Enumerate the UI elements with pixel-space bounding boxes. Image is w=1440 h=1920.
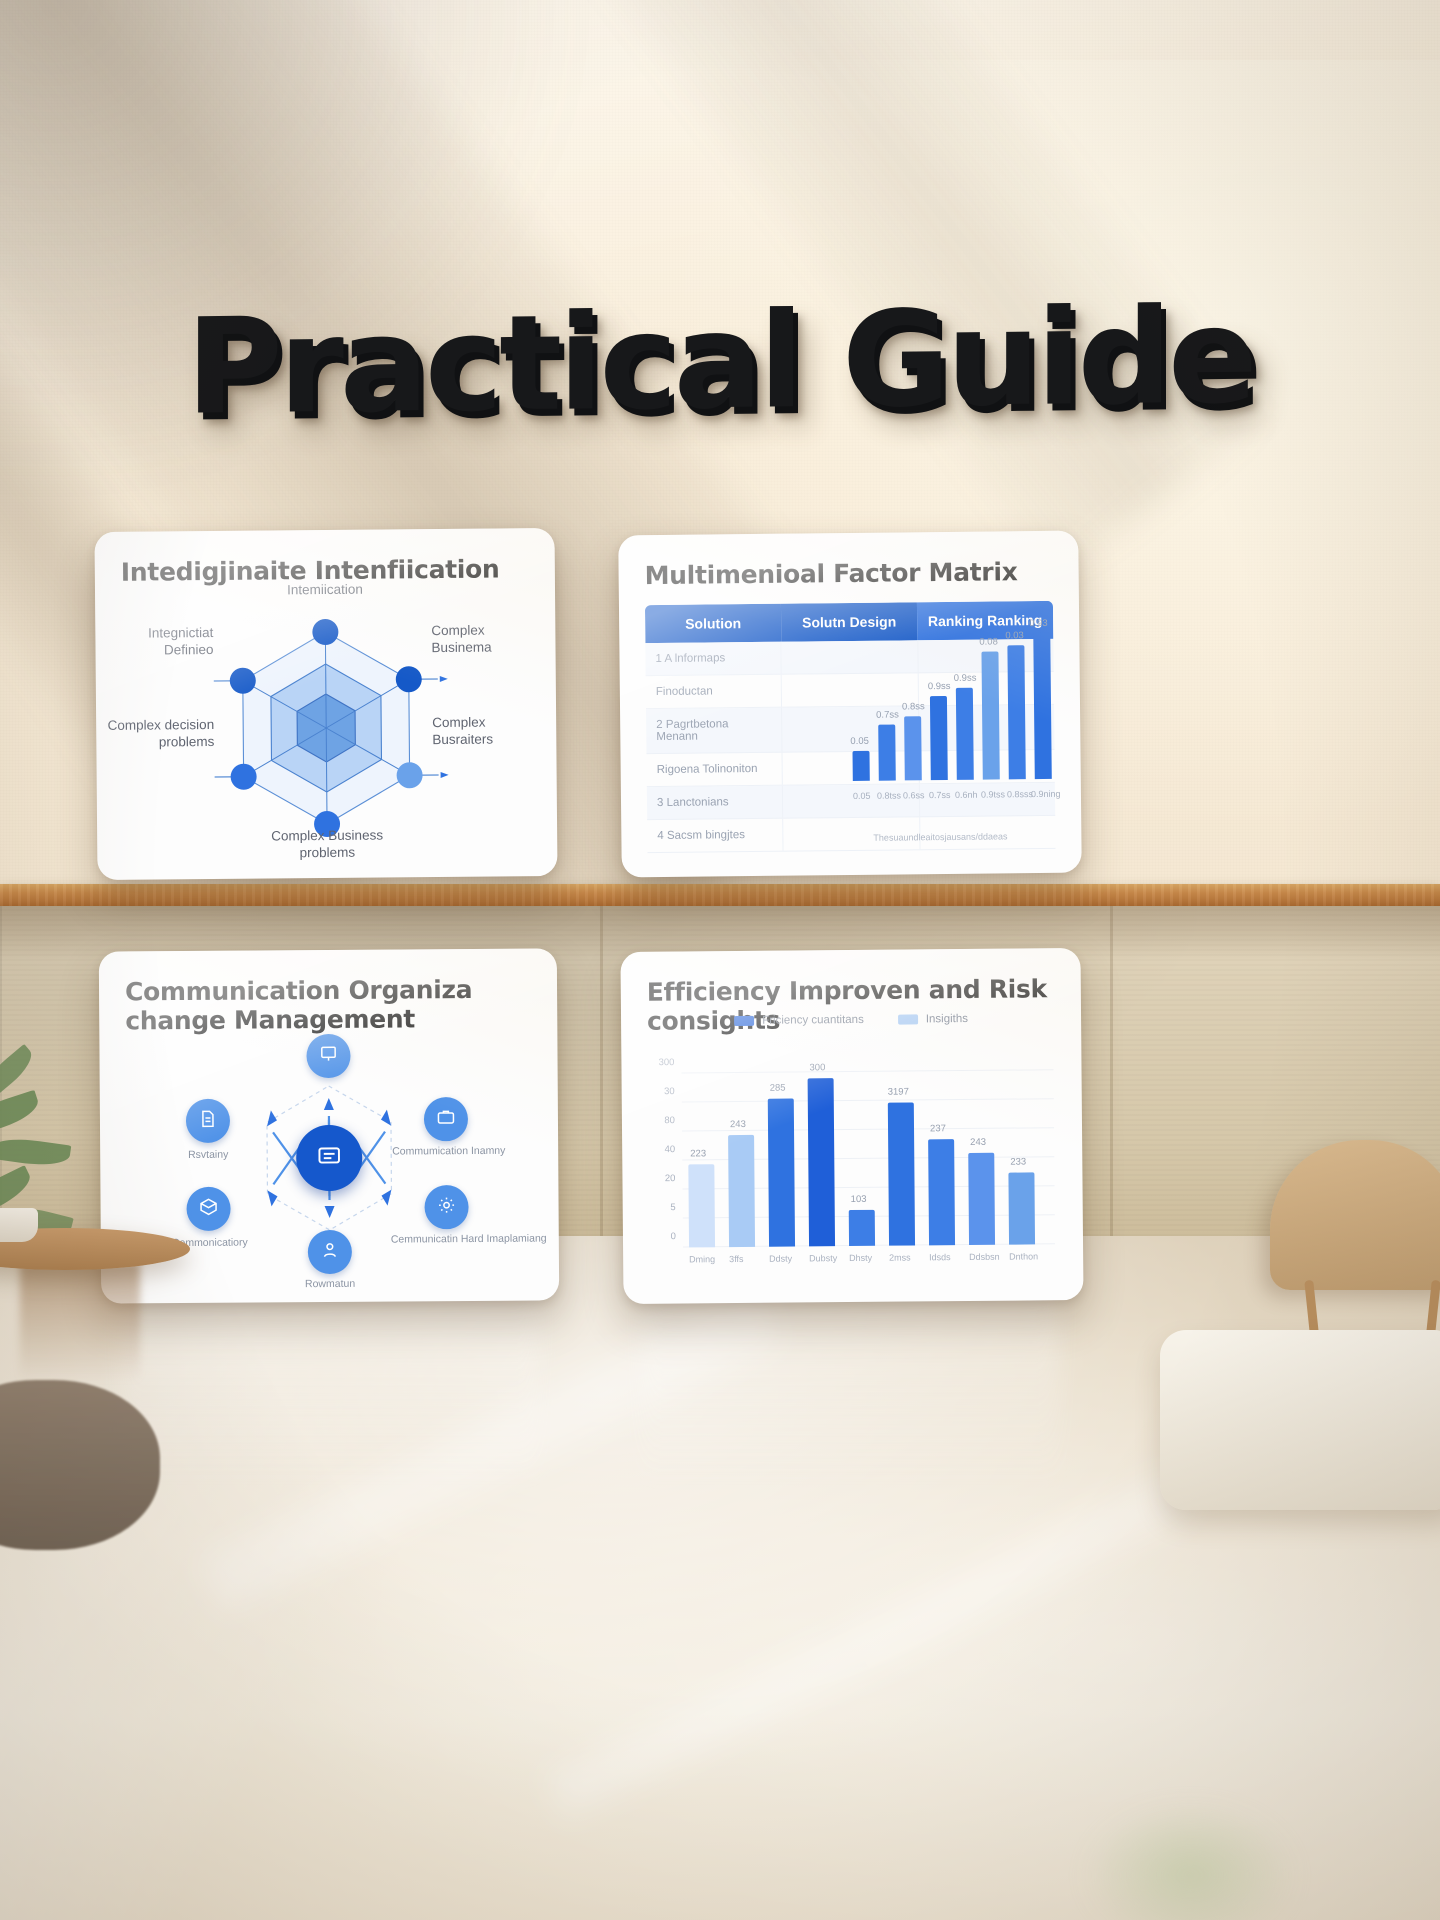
hub-node[interactable]: [296, 1125, 362, 1191]
matrix-bar-chart: 0.05 0.05 0.7ss 0.8tss 0.8ss 0.6ss 0.9ss…: [849, 623, 1057, 803]
efficiency-card[interactable]: Efficiency Improven and Risk consights F…: [620, 948, 1083, 1304]
x-axis-label: Idsds: [929, 1252, 951, 1262]
spoke-node-bottom-right[interactable]: [424, 1185, 468, 1229]
x-axis-label: Ddsbsn: [969, 1252, 1000, 1262]
table-cell: 2 Pagrtbetona Menann: [646, 708, 783, 753]
radar-axis-label-top-left: Integnictiat Definieo: [101, 625, 213, 660]
bar-category-label: 0.6nh: [955, 790, 978, 800]
bar: [1033, 633, 1052, 779]
armchair-back: [1270, 1140, 1440, 1290]
x-axis-label: 3ffs: [729, 1254, 743, 1264]
cup: [0, 1208, 38, 1242]
legend-item-efficiency[interactable]: Friciency cuantitans: [734, 1014, 864, 1027]
bar-category-label: 0.8sss: [1007, 789, 1033, 799]
bar: [852, 751, 869, 781]
x-axis-label: Dming: [689, 1254, 715, 1264]
briefcase-icon: [436, 1107, 456, 1132]
radar-chart: Intemiication Complex Businema Complex B…: [95, 576, 558, 880]
bar-value-label: 300: [809, 1062, 825, 1073]
bar: [1008, 1172, 1035, 1244]
bar-value-label: 0.8ss: [902, 701, 925, 712]
y-axis-tick: 0: [671, 1231, 676, 1242]
legend-swatch-efficiency: [734, 1016, 754, 1026]
document-icon: [198, 1108, 218, 1133]
legend-label-insights: Insigiths: [926, 1013, 968, 1025]
bar: [728, 1135, 755, 1247]
table-cell: Finoductan: [646, 675, 783, 708]
gridline: [682, 1098, 1054, 1102]
bar-value-label: 243: [970, 1137, 986, 1148]
spoke-node-bottom-left[interactable]: [186, 1187, 230, 1231]
user-icon: [320, 1239, 340, 1264]
matrix-card-title: Multimenioal Factor Matrix: [644, 557, 1052, 590]
shelf-edge: [0, 884, 1440, 906]
y-axis-tick: 40: [665, 1144, 676, 1155]
bar: [968, 1153, 995, 1245]
x-axis-label: Dubsty: [809, 1253, 837, 1263]
y-axis-tick: 5: [670, 1202, 675, 1213]
bar: [849, 1210, 875, 1246]
chart-footnote: Thesuaundleaitosjausans/ddaeas: [873, 831, 1008, 877]
y-axis-tick: 30: [664, 1086, 675, 1097]
bar: [808, 1078, 835, 1246]
legend-label-efficiency: Friciency cuantitans: [762, 1014, 864, 1027]
bar-value-label: 243: [730, 1119, 746, 1130]
bar: [888, 1102, 915, 1245]
bar: [928, 1139, 955, 1245]
bar: [688, 1164, 715, 1247]
side-table-leg: [20, 1262, 140, 1382]
x-axis-label: Dhsty: [849, 1253, 872, 1263]
radar-card[interactable]: Intedigjinaite Intenfiication: [94, 528, 557, 880]
shelf-seam: [1110, 906, 1113, 1236]
bar-value-label: 0.03: [1005, 630, 1024, 641]
hub-card-title: Communication Organiza change Management: [125, 975, 531, 1036]
bar-value-label: 223: [690, 1148, 706, 1159]
bar: [878, 725, 896, 781]
legend-swatch-insights: [898, 1014, 918, 1024]
table-cell: 1 A lnformaps: [645, 642, 782, 675]
message-icon: [316, 1142, 342, 1173]
radar-axis-label-bottom: Complex Business problems: [267, 827, 387, 862]
presentation-icon: [318, 1043, 338, 1068]
shelf-seam: [600, 906, 603, 1236]
bar-value-label: 237: [930, 1123, 946, 1134]
bar-value-label: 3197: [888, 1087, 909, 1098]
spoke-node-top-left[interactable]: [186, 1099, 230, 1143]
y-axis-tick: 80: [664, 1115, 675, 1126]
spoke-label-top-left: Rsvtainy: [148, 1148, 268, 1162]
bar-category-label: 0.9ning: [1031, 789, 1061, 799]
bar: [956, 688, 974, 780]
bar-category-label: 0.8tss: [877, 790, 901, 800]
bar-category-label: 0.05: [853, 791, 871, 801]
bar-value-label: 0.9ss: [928, 681, 951, 692]
x-axis-label: 2mss: [889, 1252, 911, 1262]
bar-value-label: 285: [770, 1083, 786, 1094]
bar-value-label: 0.7ss: [876, 709, 899, 720]
radar-axis-label-top-right: Complex Businema: [431, 622, 541, 657]
y-axis-tick: 20: [665, 1173, 676, 1184]
bar-category-label: 0.9tss: [981, 789, 1005, 799]
spoke-node-top[interactable]: [306, 1034, 350, 1078]
spoke-node-top-right[interactable]: [424, 1097, 468, 1141]
y-axis-tick: 300: [659, 1057, 675, 1068]
efficiency-bar-chart: 0 5 20 40 80 30 300 223 Dming 243 3ffs 2…: [681, 1044, 1055, 1247]
bar-value-label: 0.05: [850, 736, 869, 747]
bar: [904, 716, 922, 780]
spoke-label-bottom-right: Cemmunicatin Hard Imaplamiang: [391, 1232, 551, 1246]
table-cell: Rigoena Tolinoniton: [647, 753, 784, 786]
radar-axis-label-bottom-right: Complex Busraiters: [432, 714, 542, 749]
bar-value-label: 0.93: [1029, 618, 1048, 629]
radar-axis-label-bottom-left: Complex decision problems: [102, 717, 214, 752]
table-cell: 4 Sacsm bingjtes: [647, 819, 784, 852]
bar-value-label: 0.08: [979, 636, 998, 647]
room-scene: Practical Guide Intedigjinaite Intenfiic…: [0, 0, 1440, 1920]
bar: [930, 696, 948, 780]
legend-item-insights[interactable]: Insigiths: [898, 1013, 968, 1026]
bar: [768, 1099, 795, 1247]
table-cell: 3 Lanctonians: [647, 786, 784, 819]
bar-value-label: 103: [851, 1194, 867, 1205]
x-axis-label: Dnthon: [1009, 1251, 1038, 1261]
gear-icon: [436, 1195, 456, 1220]
table-col-solution: Solution: [645, 604, 781, 643]
bar: [981, 651, 999, 779]
bar-category-label: 0.7ss: [929, 790, 951, 800]
spoke-node-bottom[interactable]: [308, 1230, 352, 1274]
x-axis-label: Ddsty: [769, 1254, 792, 1264]
matrix-card[interactable]: Multimenioal Factor Matrix Solution Solu…: [618, 531, 1082, 878]
bar: [1007, 645, 1025, 779]
bar-category-label: 0.6ss: [903, 790, 925, 800]
spoke-label-bottom: Rowmatun: [271, 1278, 389, 1292]
ottoman: [1160, 1330, 1440, 1510]
gridline: [682, 1069, 1054, 1073]
box-icon: [198, 1196, 218, 1221]
bar-value-label: 233: [1010, 1156, 1026, 1167]
bar-value-label: 0.9ss: [954, 673, 977, 684]
radar-axis-label-top: Intemiication: [265, 581, 385, 599]
spoke-label-top-right: Commumication Inamny: [392, 1145, 542, 1159]
